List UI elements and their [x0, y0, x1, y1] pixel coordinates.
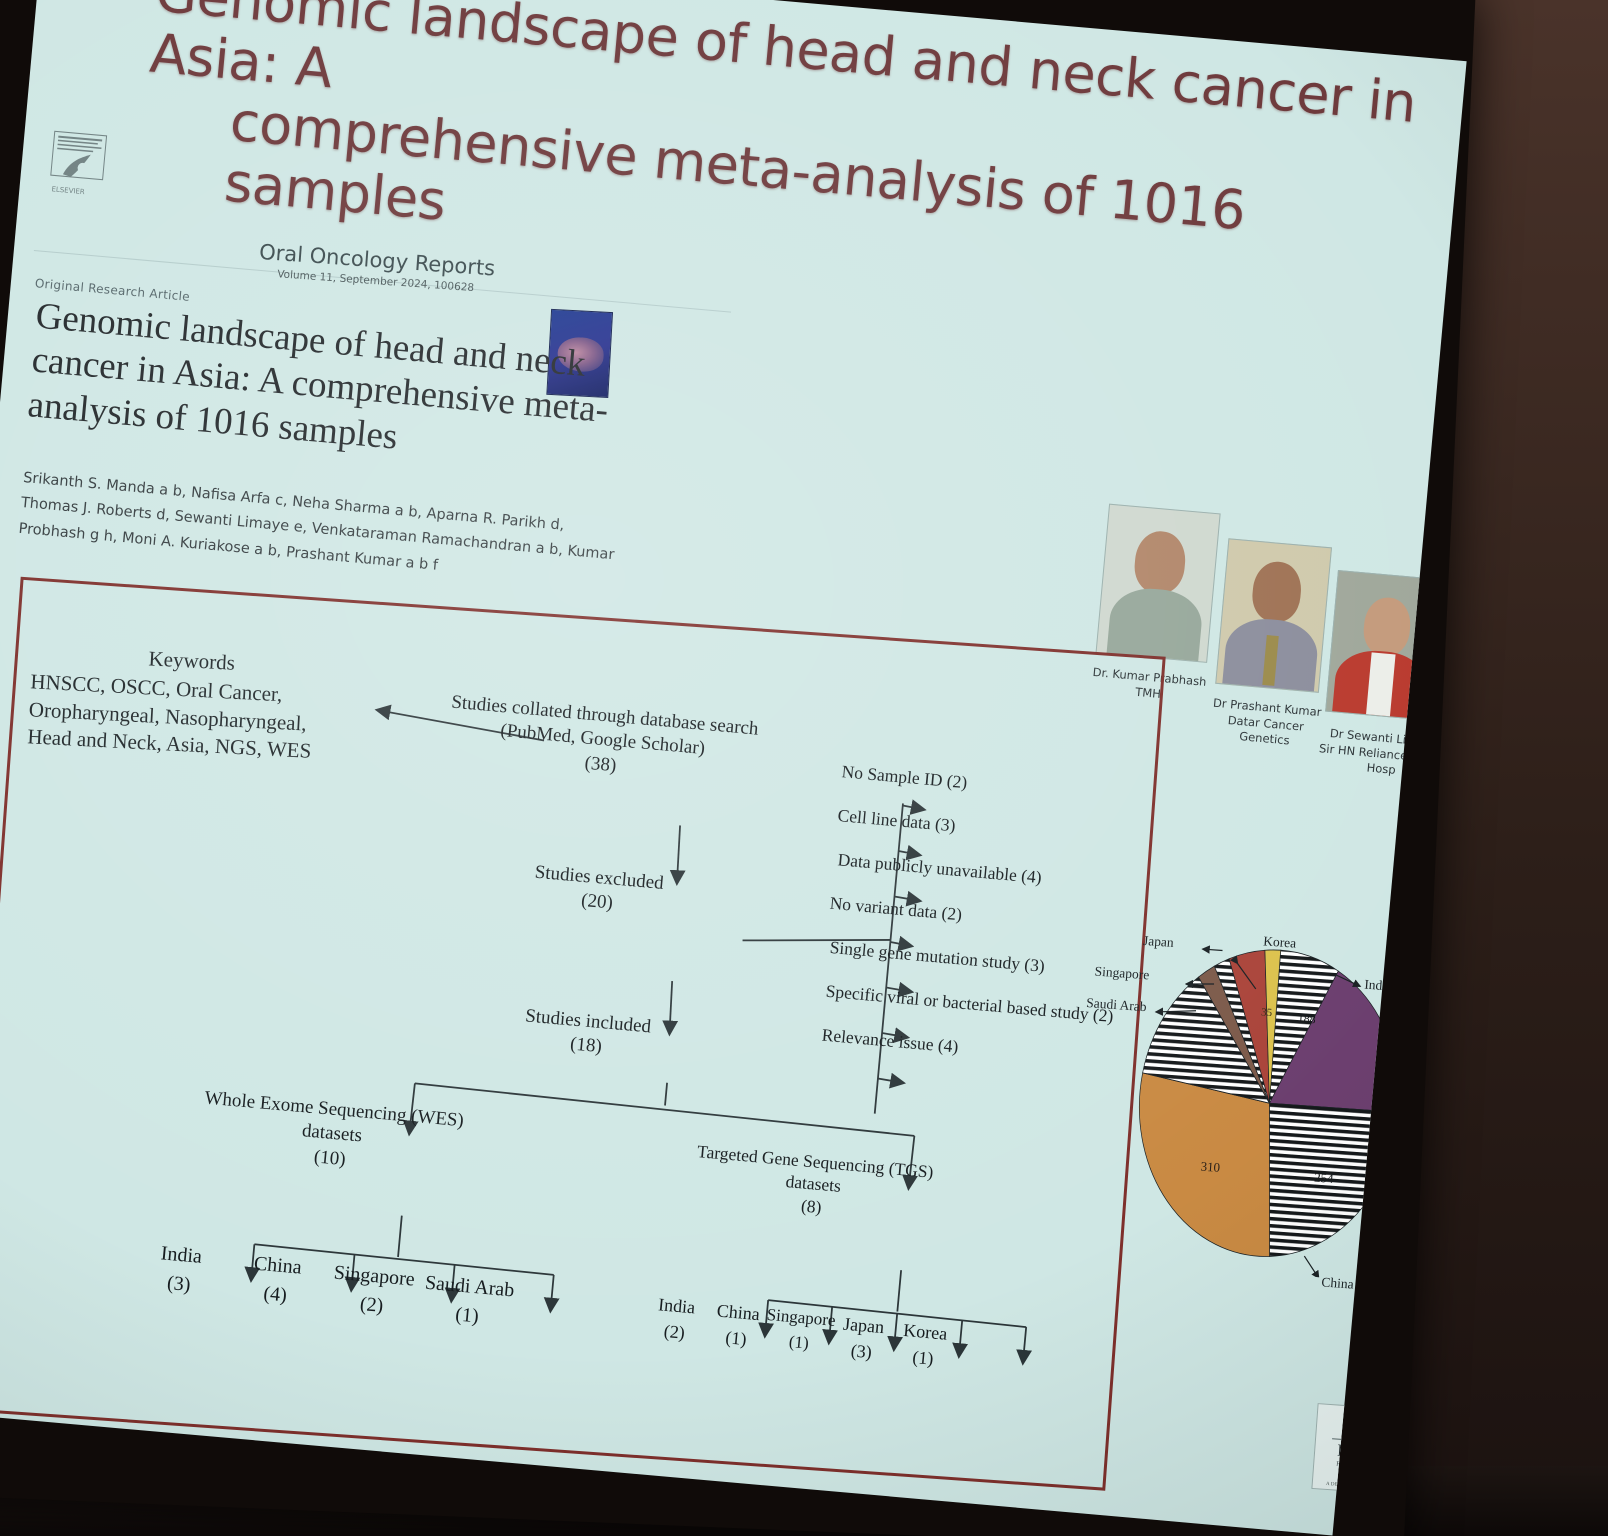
wes-swatch-icon — [1380, 1179, 1404, 1209]
pie-label-japan: Japan — [1142, 933, 1174, 951]
wes-country-leaf: Saudi Arab (1) — [410, 1268, 527, 1336]
svg-text:ELSEVIER: ELSEVIER — [51, 185, 85, 196]
projection-screen-bezel: Genomic landscape of head and neck cance… — [0, 0, 1475, 1536]
wes-country-leaf: China (4) — [224, 1247, 329, 1314]
pie-value-india-wes: 188 — [1297, 1011, 1316, 1026]
avatar — [1325, 570, 1441, 721]
avatar — [1215, 538, 1332, 693]
tgs-country-leaf: Korea (1) — [878, 1315, 970, 1375]
pie-chart-svg: 310 254 188 35 — [1107, 918, 1431, 1283]
keywords-block: Keywords HNSCC, OSCC, Oral Cancer, Oroph… — [27, 639, 353, 767]
pie-label-china: China — [1321, 1274, 1354, 1292]
avatar — [1096, 504, 1221, 663]
elsevier-logo: ELSEVIER — [46, 129, 115, 210]
presentation-slide: Genomic landscape of head and neck cance… — [0, 0, 1467, 1536]
presenter-affiliation: Sir HN Reliance Found Hosp — [1314, 740, 1450, 783]
logo-rule — [1332, 1438, 1401, 1444]
pie-value-korea: 35 — [1261, 1006, 1273, 1019]
paper-title: Genomic landscape of head and neck cance… — [26, 294, 636, 479]
pie-label-india: India — [1364, 977, 1393, 995]
pie-label-korea: Korea — [1263, 933, 1297, 951]
author-list: Srikanth S. Manda a b, Nafisa Arfa c, Ne… — [17, 466, 621, 595]
journal-name: Oral Oncology Reports Volume 11, Septemb… — [231, 238, 523, 297]
photo-of-projected-slide: Genomic landscape of head and neck cance… — [0, 0, 1608, 1536]
presenter-caption: Dr Sewanti Limaye Sir HN Reliance Found … — [1314, 725, 1452, 783]
pie-value-china-wes: 254 — [1314, 1170, 1335, 1186]
wes-country-leaf: India (3) — [128, 1237, 233, 1304]
tgs-swatch-icon — [1376, 1232, 1400, 1262]
logo-subtitle: Foundation Hospital — [1316, 1459, 1413, 1473]
pie-value-china-tgs: 310 — [1200, 1159, 1221, 1175]
pie-chart: 310 254 188 35 Japan Korea — [1107, 918, 1431, 1283]
presenter-caption: Dr Prashant Kumar Datar Cancer Genetics — [1200, 695, 1332, 753]
